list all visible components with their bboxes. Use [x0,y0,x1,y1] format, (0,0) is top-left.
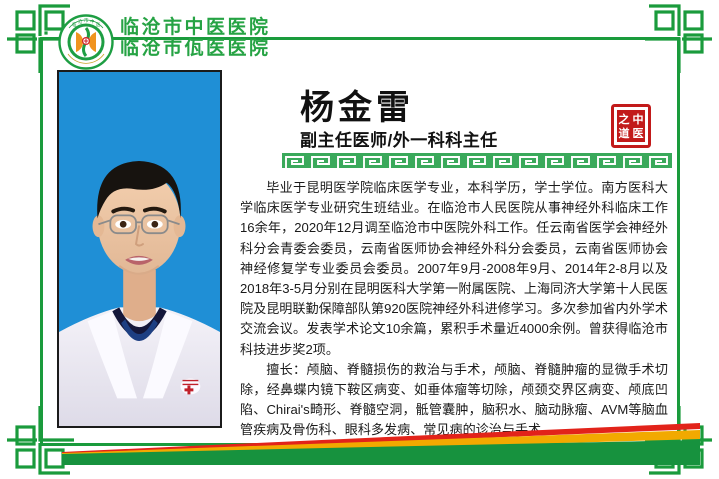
svg-text:市: 市 [84,17,89,24]
svg-text:中: 中 [633,112,644,126]
frame-right-line [677,37,680,446]
hospital-logo: 临沧市 中医 [58,14,114,70]
status-badge: 中 之 医 道 [611,104,651,148]
hospital-name-line-2: 临沧市佤医医院 [120,38,271,59]
greek-key-band-icon [282,153,672,168]
frame-left-line [40,37,43,446]
hospital-circular-emblem-icon: 临沧市 中医 [58,14,114,70]
svg-text:沧: 沧 [78,18,83,25]
svg-text:道: 道 [619,126,630,140]
svg-text:之: 之 [619,112,630,126]
bottom-ribbon-swoosh-icon [0,418,719,470]
biography-text: 毕业于昆明医学院临床医学专业，本科学历，学士学位。南方医科大学临床医学专业研究生… [240,178,668,441]
svg-text:临: 临 [72,21,77,28]
page-title: 杨金雷 [300,80,414,129]
hospital-name-block: 临沧市中医医院 临沧市佤医医院 [120,17,271,60]
hospital-name-line-1: 临沧市中医医院 [120,17,271,38]
svg-text:医: 医 [633,127,644,140]
svg-text:中: 中 [90,18,94,25]
profile-subtitle: 副主任医师/外一科科主任 [300,126,498,151]
portrait-photo [57,70,222,428]
poster-canvas: 临沧市 中医 临沧市中医医院 临沧市佤医医院 [0,0,719,479]
portrait-illustration [59,72,220,426]
bio-paragraph-1: 毕业于昆明医学院临床医学专业，本科学历，学士学位。南方医科大学临床医学专业研究生… [240,178,668,360]
svg-text:医: 医 [96,22,101,27]
meander-corner-ornament-icon [641,3,715,77]
red-square-seal-icon: 中 之 医 道 [611,104,651,148]
coat-badge-icon [181,379,201,395]
